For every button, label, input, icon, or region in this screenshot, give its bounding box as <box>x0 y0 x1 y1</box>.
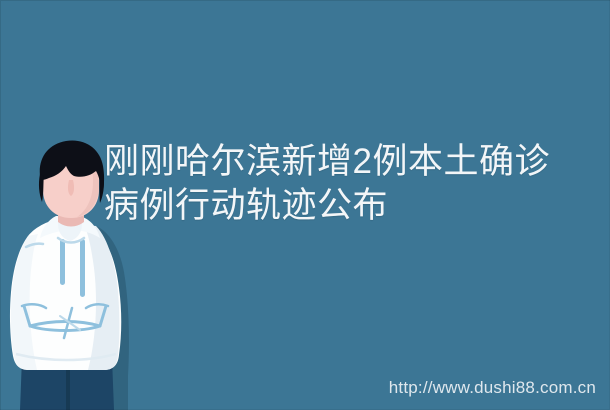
hoodie-drawstring-right <box>80 239 85 297</box>
hoodie-drawstring-left <box>60 239 65 285</box>
page-title: 刚刚哈尔滨新增2例本土确诊病例行动轨迹公布 <box>104 140 582 228</box>
head <box>39 140 104 218</box>
poster-canvas: 刚刚哈尔滨新增2例本土确诊病例行动轨迹公布 http://www.dushi88… <box>0 0 610 410</box>
watermark-url: http://www.dushi88.com.cn <box>389 378 596 398</box>
hoodie <box>10 216 121 370</box>
